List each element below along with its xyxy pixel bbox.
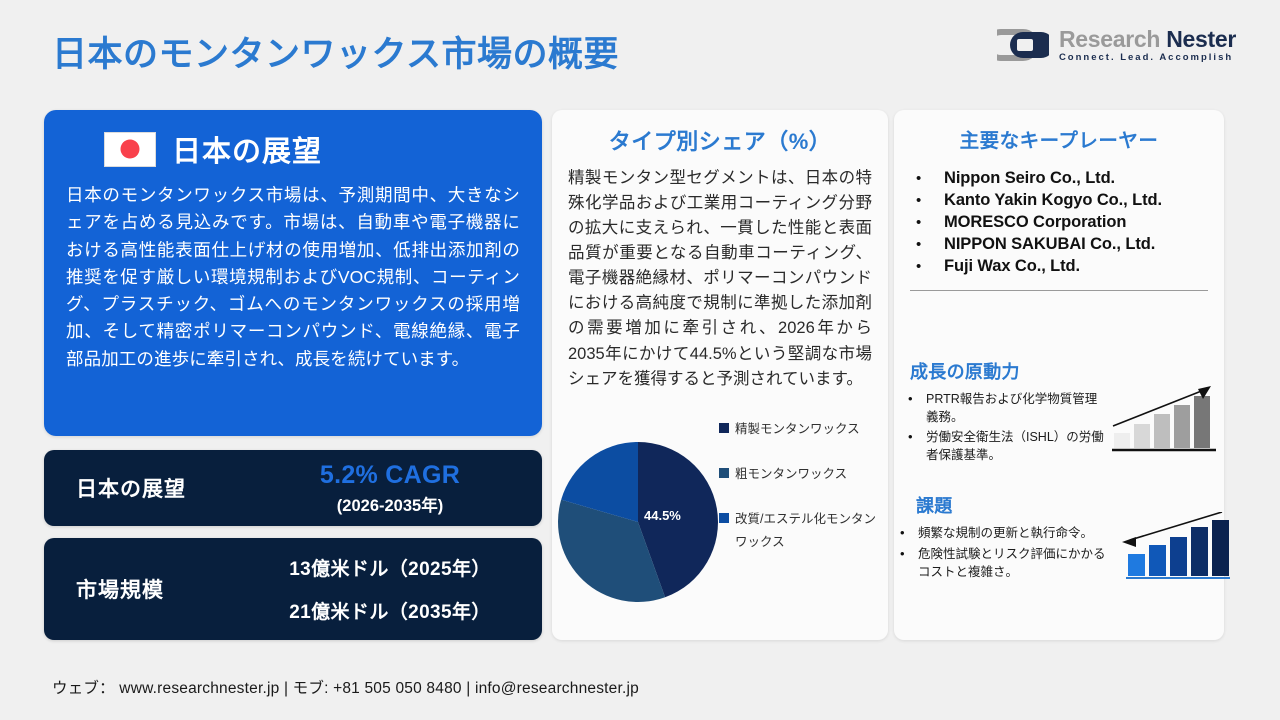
- challenges-item: 頻繁な規制の更新と執行命令。: [918, 524, 1093, 542]
- list-item: •Fuji Wax Co., Ltd.: [916, 257, 1224, 276]
- infographic-page: 日本のモンタンワックス市場の概要 Research Nester Connect…: [0, 0, 1280, 720]
- key-players-title: 主要なキープレーヤー: [894, 124, 1224, 153]
- ascending-bar-chart-down-arrow-icon: [1118, 512, 1230, 590]
- list-item: •Nippon Seiro Co., Ltd.: [916, 169, 1224, 188]
- panel-divider: [910, 290, 1208, 291]
- key-players-list: •Nippon Seiro Co., Ltd.•Kanto Yakin Kogy…: [894, 169, 1224, 276]
- cagr-value: 5.2% CAGR: [256, 461, 524, 490]
- growth-drivers-list: •PRTR報告および化学物質管理義務。•労働安全衛生法（ISHL）の労働者保護基…: [894, 390, 1108, 465]
- list-item: •Kanto Yakin Kogyo Co., Ltd.: [916, 191, 1224, 210]
- legend-swatch-icon: [719, 468, 729, 478]
- logo-text: Research Nester Connect. Lead. Accomplis…: [1059, 28, 1236, 63]
- growth-item: PRTR報告および化学物質管理義務。: [926, 390, 1108, 426]
- logo-word-research: Research: [1059, 26, 1160, 52]
- challenges-item: 危険性試験とリスク評価にかかるコストと複雑さ。: [918, 545, 1108, 581]
- brand-logo: Research Nester Connect. Lead. Accomplis…: [997, 28, 1236, 63]
- pie-chart-area: 44.5% 精製モンタンワックス粗モンタンワックス改質/エステル化モンタンワック…: [552, 410, 888, 640]
- list-item: •危険性試験とリスク評価にかかるコストと複雑さ。: [900, 545, 1108, 581]
- list-item: •PRTR報告および化学物質管理義務。: [908, 390, 1108, 426]
- outlook-header: 日本の展望: [66, 128, 520, 170]
- market-size-2025: 13億米ドル（2025年）: [256, 554, 524, 581]
- growth-item: 労働安全衛生法（ISHL）の労働者保護基準。: [926, 428, 1108, 464]
- research-nester-logo-icon: [997, 28, 1049, 62]
- japan-outlook-card: 日本の展望 日本のモンタンワックス市場は、予測期間中、大きなシェアを占める見込み…: [44, 110, 542, 436]
- bullet-icon: •: [908, 390, 926, 409]
- outlook-title: 日本の展望: [172, 128, 322, 170]
- list-item: •労働安全衛生法（ISHL）の労働者保護基準。: [908, 428, 1108, 464]
- list-item: •NIPPON SAKUBAI Co., Ltd.: [916, 235, 1224, 254]
- cagr-values: 5.2% CAGR (2026-2035年): [256, 461, 542, 516]
- bullet-icon: •: [900, 545, 918, 564]
- legend-item: 改質/エステル化モンタンワックス: [719, 508, 885, 554]
- market-size-label: 市場規模: [44, 574, 256, 604]
- list-item: •MORESCO Corporation: [916, 213, 1224, 232]
- list-item: •頻繁な規制の更新と執行命令。: [900, 524, 1108, 543]
- legend-item: 粗モンタンワックス: [719, 463, 885, 486]
- key-player-name: MORESCO Corporation: [944, 213, 1126, 232]
- legend-label: 改質/エステル化モンタンワックス: [735, 508, 885, 554]
- legend-swatch-icon: [719, 423, 729, 433]
- cagr-period: (2026-2035年): [256, 492, 524, 516]
- cagr-label: 日本の展望: [44, 473, 256, 503]
- bullet-icon: •: [900, 524, 918, 543]
- pie-chart: [558, 442, 718, 602]
- page-title: 日本のモンタンワックス市場の概要: [52, 26, 619, 77]
- logo-word-nester: Nester: [1166, 26, 1236, 52]
- bullet-icon: •: [916, 258, 944, 275]
- market-size-2035: 21億米ドル（2035年）: [256, 597, 524, 624]
- pie-chart-legend: 精製モンタンワックス粗モンタンワックス改質/エステル化モンタンワックス: [719, 418, 885, 577]
- key-player-name: Kanto Yakin Kogyo Co., Ltd.: [944, 191, 1162, 210]
- key-player-name: NIPPON SAKUBAI Co., Ltd.: [944, 235, 1155, 254]
- pie-data-label: 44.5%: [644, 508, 681, 523]
- bullet-icon: •: [916, 214, 944, 231]
- logo-tagline: Connect. Lead. Accomplish: [1059, 53, 1236, 63]
- market-size-stat-card: 市場規模 13億米ドル（2025年） 21億米ドル（2035年）: [44, 538, 542, 640]
- share-by-type-panel: タイプ別シェア（%） 精製モンタン型セグメントは、日本の特殊化学品および工業用コ…: [552, 110, 888, 640]
- share-panel-body-text: 精製モンタン型セグメントは、日本の特殊化学品および工業用コーティング分野の拡大に…: [568, 166, 872, 392]
- bullet-icon: •: [916, 170, 944, 187]
- legend-item: 精製モンタンワックス: [719, 418, 885, 441]
- outlook-body-text: 日本のモンタンワックス市場は、予測期間中、大きなシェアを占める見込みです。市場は…: [66, 182, 520, 373]
- legend-label: 粗モンタンワックス: [735, 463, 847, 486]
- bullet-icon: •: [916, 236, 944, 253]
- footer-contact: ウェブ： www.researchnester.jp | モブ: +81 505…: [52, 676, 639, 698]
- key-player-name: Fuji Wax Co., Ltd.: [944, 257, 1080, 276]
- key-player-name: Nippon Seiro Co., Ltd.: [944, 169, 1115, 188]
- cagr-stat-card: 日本の展望 5.2% CAGR (2026-2035年): [44, 450, 542, 526]
- japan-flag-icon: [104, 132, 156, 167]
- share-panel-title: タイプ別シェア（%）: [568, 124, 872, 156]
- challenges-list: •頻繁な規制の更新と執行命令。•危険性試験とリスク評価にかかるコストと複雑さ。: [894, 524, 1108, 581]
- bullet-icon: •: [908, 428, 926, 447]
- ascending-bar-chart-up-arrow-icon: [1112, 378, 1224, 456]
- market-size-values: 13億米ドル（2025年） 21億米ドル（2035年）: [256, 554, 542, 624]
- legend-label: 精製モンタンワックス: [735, 418, 860, 441]
- legend-swatch-icon: [719, 513, 729, 523]
- header: 日本のモンタンワックス市場の概要 Research Nester Connect…: [0, 0, 1280, 96]
- bullet-icon: •: [916, 192, 944, 209]
